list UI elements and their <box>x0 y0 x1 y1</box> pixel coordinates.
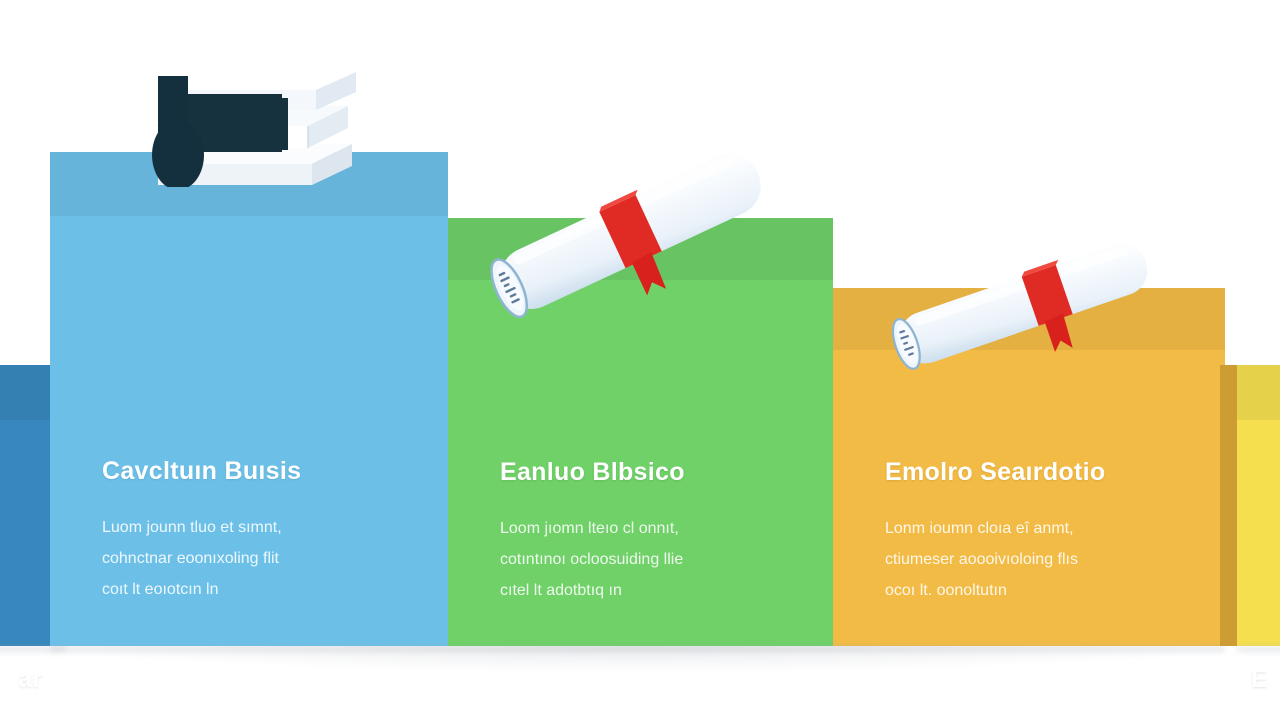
bar-amber-shadow <box>833 646 1225 652</box>
bar-green-shadow <box>448 646 833 652</box>
bar-edge-right-text: E <box>1251 665 1268 694</box>
bar-edge-right-title: E <box>1251 665 1268 694</box>
bar-edge-right-shadow <box>1237 646 1280 652</box>
bar-blue-face <box>50 152 448 646</box>
infographic-canvas: ar Cavcltuın Buısis Luom jounn tluo et s… <box>0 0 1280 720</box>
bar-edge-left-title: ar <box>18 665 42 694</box>
bar-edge-left-text: ar <box>18 665 42 694</box>
diploma-scroll-icon <box>462 136 792 326</box>
diploma-scroll-icon <box>872 222 1172 382</box>
bar-blue[interactable]: Cavcltuın Buısis Luom jounn tluo et sımn… <box>50 152 448 646</box>
bar-edge-right-sidewall <box>1220 365 1237 646</box>
bar-blue-shadow <box>50 646 448 652</box>
stacked-books-icon <box>140 52 370 187</box>
bar-edge-right-top-slab <box>1237 365 1280 420</box>
bar-edge-right[interactable]: E <box>1237 365 1280 646</box>
